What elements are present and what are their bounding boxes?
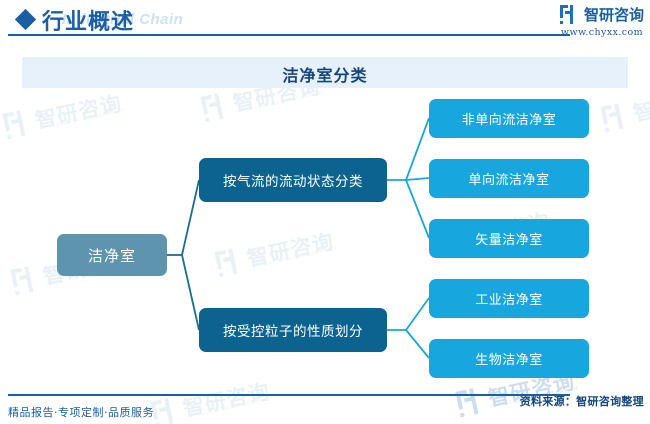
footer-divider bbox=[8, 394, 570, 396]
page-title: 行业概述 bbox=[42, 4, 134, 36]
diagram-node-leaf-unidirectional[interactable]: 单向流洁净室 bbox=[429, 159, 589, 198]
node-label: 矢量洁净室 bbox=[475, 229, 543, 248]
node-label: 单向流洁净室 bbox=[468, 169, 549, 188]
diagram-node-branch-airflow[interactable]: 按气流的流动状态分类 bbox=[199, 158, 387, 202]
footer-slogan: 精品报告·专项定制·品质服务 bbox=[8, 404, 154, 420]
diagram-node-leaf-vector[interactable]: 矢量洁净室 bbox=[429, 219, 589, 258]
node-label: 生物洁净室 bbox=[475, 349, 543, 368]
diagram-node-leaf-non-unidirectional[interactable]: 非单向流洁净室 bbox=[429, 99, 589, 138]
diagram-node-root[interactable]: 洁净室 bbox=[57, 234, 167, 276]
diamond-icon bbox=[15, 9, 36, 30]
brand-name: 智研咨询 bbox=[584, 4, 644, 25]
node-label: 非单向流洁净室 bbox=[462, 109, 557, 128]
header-divider bbox=[8, 34, 570, 36]
node-label: 洁净室 bbox=[88, 245, 136, 266]
brand-url: www.chyxx.com bbox=[561, 27, 643, 38]
cleanroom-classification-diagram: 洁净室 按气流的流动状态分类 按受控粒子的性质划分 非单向流洁净室 单向流洁净室… bbox=[0, 0, 650, 424]
diagram-node-leaf-biological[interactable]: 生物洁净室 bbox=[429, 339, 589, 378]
footer-source: 资料来源：智研咨询整理 bbox=[520, 393, 644, 409]
node-label: 按受控粒子的性质划分 bbox=[223, 320, 363, 340]
node-label: 按气流的流动状态分类 bbox=[223, 170, 363, 190]
page-footer: 精品报告·专项定制·品质服务 资料来源：智研咨询整理 bbox=[0, 390, 650, 424]
diagram-node-leaf-industrial[interactable]: 工业洁净室 bbox=[429, 279, 589, 318]
diagram-node-branch-particle[interactable]: 按受控粒子的性质划分 bbox=[199, 308, 387, 352]
node-label: 工业洁净室 bbox=[475, 289, 543, 308]
brand-logo: 智研咨询 bbox=[560, 4, 644, 25]
zhiyan-logo-icon bbox=[560, 5, 579, 24]
page-header: Industrial Chain 行业概述 智研咨询 www.chyxx.com bbox=[0, 0, 650, 46]
